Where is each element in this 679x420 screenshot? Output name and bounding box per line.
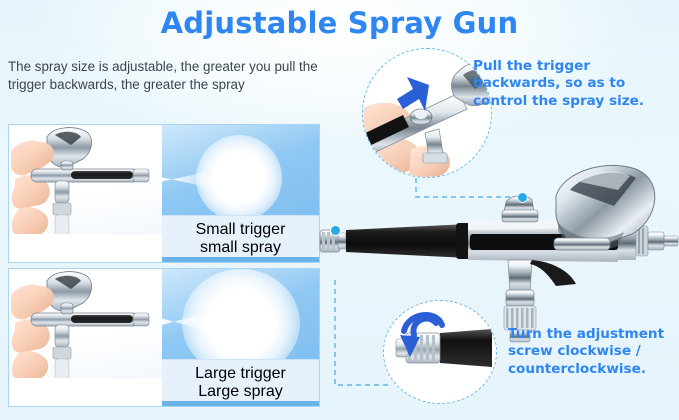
panel-large-caption-sub: Large spray bbox=[198, 383, 283, 401]
callout-text-trigger: Pull the trigger backwards, so as to con… bbox=[473, 58, 679, 110]
trigger-closeup-illustration bbox=[363, 49, 491, 177]
panel-large-caption-title: Large trigger bbox=[195, 365, 286, 383]
infographic-canvas: Adjustable Spray Gun The spray size is a… bbox=[0, 0, 679, 420]
screw-closeup-illustration bbox=[384, 301, 496, 403]
main-airbrush-product bbox=[318, 162, 679, 344]
airbrush-illustration-small bbox=[9, 125, 162, 234]
marker-dot-trigger bbox=[518, 193, 527, 202]
spray-blob-small bbox=[196, 135, 282, 221]
callout-circle-screw bbox=[383, 300, 497, 404]
intro-text: The spray size is adjustable, the greate… bbox=[8, 58, 326, 94]
panel-small-caption: Small trigger small spray bbox=[162, 215, 319, 262]
marker-dot-adjustment-screw bbox=[331, 226, 340, 235]
callout-text-screw: Turn the adjustment screw clockwise / co… bbox=[508, 326, 679, 378]
panel-large-spray: Large trigger Large spray bbox=[8, 268, 320, 407]
panel-large-accent-bar bbox=[162, 401, 319, 406]
panel-large-caption: Large trigger Large spray bbox=[162, 359, 319, 406]
panel-small-caption-title: Small trigger bbox=[196, 221, 286, 239]
airbrush-photo-small bbox=[9, 125, 162, 234]
panel-small-accent-bar bbox=[162, 257, 319, 262]
panel-small-caption-sub: small spray bbox=[200, 239, 281, 257]
airbrush-illustration-large bbox=[9, 269, 162, 378]
page-title: Adjustable Spray Gun bbox=[0, 6, 679, 40]
panel-small-spray: Small trigger small spray bbox=[8, 124, 320, 263]
airbrush-photo-large bbox=[9, 269, 162, 378]
